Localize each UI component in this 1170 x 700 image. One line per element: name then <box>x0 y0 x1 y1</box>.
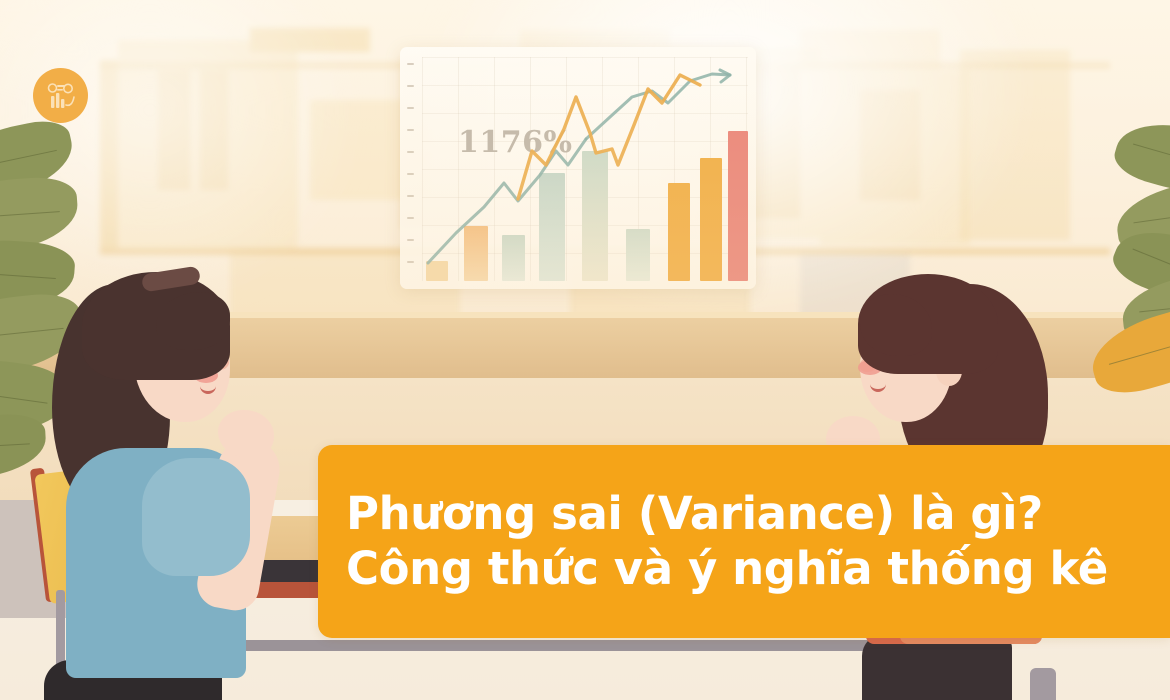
mouth <box>870 384 886 392</box>
title-line-2: Công thức và ý nghĩa thống kê <box>346 542 1170 597</box>
chart-line-series <box>400 47 756 289</box>
analytics-bar-chart-logo-icon <box>44 79 78 113</box>
title-banner: Phương sai (Variance) là gì? Công thức v… <box>318 445 1170 638</box>
whiteboard-chart: 1176% <box>400 47 756 289</box>
illustration-canvas: 1176% <box>0 0 1170 700</box>
person-left <box>30 262 360 700</box>
title-line-1: Phương sai (Variance) là gì? <box>346 487 1170 542</box>
brand-logo[interactable] <box>33 68 88 123</box>
sleeve <box>142 458 250 576</box>
chair-frame-right <box>1030 668 1056 700</box>
mouth <box>200 386 216 394</box>
